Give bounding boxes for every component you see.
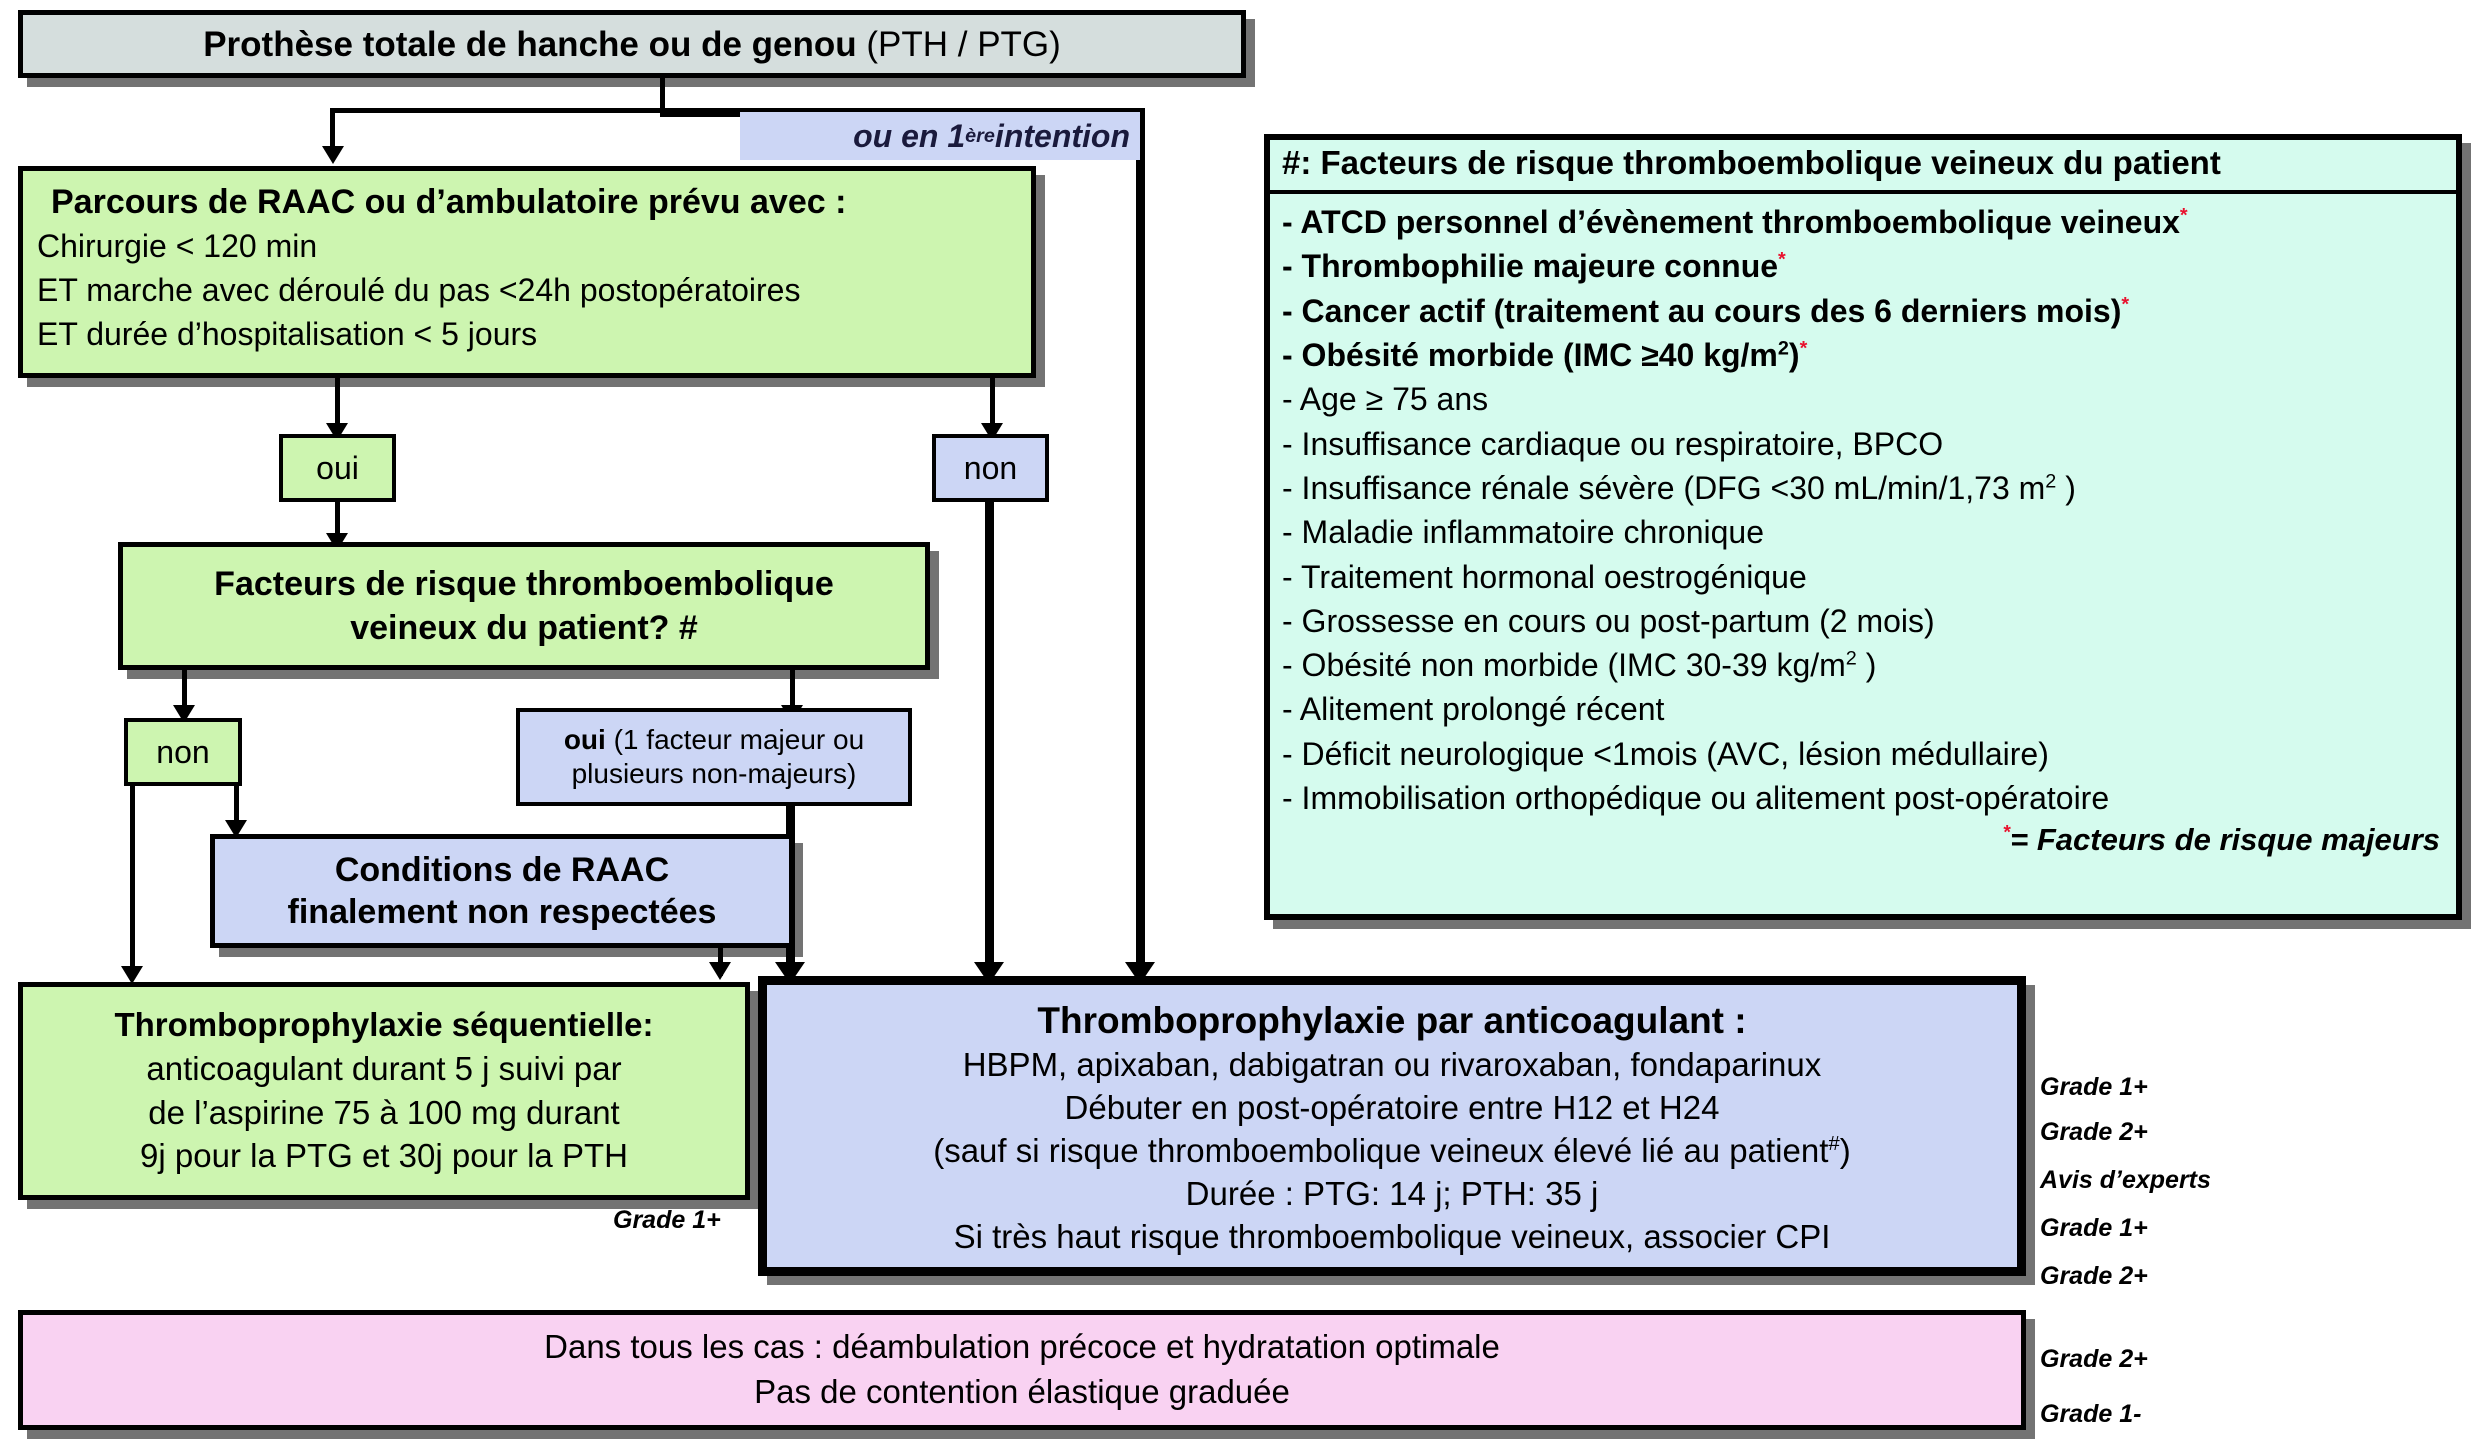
anticoag-heading: Thromboprophylaxie par anticoagulant : [767, 997, 2017, 1044]
anticoag-line-4: Durée : PTG: 14 j; PTH: 35 j [767, 1173, 2017, 1216]
node-title-prosthesis: Prothèse totale de hanche ou de genou (P… [18, 10, 1246, 78]
risk-item-obesity-minor-pre: - Obésité non morbide (IMC 30-39 kg/m [1282, 647, 1846, 683]
risk-item-obesity-major-post: ) [1789, 337, 1800, 373]
connector-title-stem [660, 78, 665, 112]
risk-panel-footnote-star: * [2003, 823, 2010, 844]
anticoag-line-5: Si très haut risque thromboembolique vei… [767, 1216, 2017, 1259]
node-anticoagulant-prophylaxis: Thromboprophylaxie par anticoagulant : H… [758, 976, 2026, 1276]
risk-oui-line-1: oui (1 facteur majeur ou [520, 723, 908, 757]
connector-risknon-to-sequential [130, 786, 135, 978]
grade-anticoag-1: Grade 1+ [2040, 1073, 2148, 1102]
risk-item-obesity-minor: - Obésité non morbide (IMC 30-39 kg/m2 ) [1282, 643, 2456, 687]
risk-item-major-2-text: - Thrombophilie majeure connue [1282, 248, 1778, 284]
risk-item-major-3: - Cancer actif (traitement au cours des … [1282, 289, 2456, 333]
raac-failed-line-1: Conditions de RAAC [215, 849, 789, 892]
node-risk-oui-major: oui (1 facteur majeur ou plusieurs non-m… [516, 708, 912, 806]
risk-item-major-2-star: * [1778, 249, 1786, 271]
raac-line-2: ET marche avec déroulé du pas <24h posto… [37, 268, 1017, 312]
all-cases-line-2: Pas de contention élastique graduée [23, 1370, 2021, 1415]
risk-item-obesity-major: - Obésité morbide (IMC ≥40 kg/m2)* [1282, 333, 2456, 377]
node-risk-non: non [124, 718, 242, 786]
risk-item-pregnancy: - Grossesse en cours ou post-partum (2 m… [1282, 599, 2456, 643]
risk-item-renal-pre: - Insuffisance rénale sévère (DFG <30 mL… [1282, 470, 2045, 506]
label-first-intention-post: intention [995, 118, 1130, 155]
anticoag-line-3-sup: # [1828, 1132, 1839, 1155]
risk-item-hormonal: - Traitement hormonal oestrogénique [1282, 555, 2456, 599]
risk-item-neuro: - Déficit neurologique <1mois (AVC, lési… [1282, 732, 2456, 776]
risk-question-line-2: veineux du patient? # [123, 606, 925, 650]
grade-all-cases-1: Grade 2+ [2040, 1345, 2148, 1374]
grade-anticoag-5: Grade 2+ [2040, 1262, 2148, 1291]
risk-question-line-1: Facteurs de risque thromboembolique [123, 562, 925, 606]
sequential-line-2: de l’aspirine 75 à 100 mg durant [23, 1091, 745, 1135]
risk-item-obesity-minor-sup: 2 [1846, 647, 1857, 669]
anticoag-line-2: Débuter en post-opératoire entre H12 et … [767, 1087, 2017, 1130]
raac-line-3: ET durée d’hospitalisation < 5 jours [37, 312, 1017, 356]
connector-to-raac [330, 108, 335, 150]
anticoag-line-3: (sauf si risque thromboembolique veineux… [767, 1130, 2017, 1173]
risk-item-major-2: - Thrombophilie majeure connue* [1282, 244, 2456, 288]
connector-title-split [330, 108, 665, 113]
grade-anticoag-4: Grade 1+ [2040, 1214, 2148, 1243]
sequential-heading-bold: Thromboprophylaxie séquentielle [114, 1006, 642, 1043]
node-risk-question: Facteurs de risque thromboembolique vein… [118, 542, 930, 670]
risk-item-major-1-text: - ATCD personnel d’évènement thromboembo… [1282, 204, 2180, 240]
risk-panel-list: - ATCD personnel d’évènement thromboembo… [1270, 194, 2456, 820]
grade-anticoag-2: Grade 2+ [2040, 1118, 2148, 1147]
risk-item-renal-post: ) [2056, 470, 2076, 506]
node-sequential-prophylaxis: Thromboprophylaxie séquentielle: anticoa… [18, 982, 750, 1200]
label-first-intention: ou en 1ère intention [740, 112, 1140, 160]
risk-oui-rest: (1 facteur majeur ou [606, 724, 864, 755]
anticoag-line-3-b: ) [1840, 1132, 1851, 1169]
risk-non-label: non [128, 734, 238, 771]
raac-failed-line-2: finalement non respectées [215, 891, 789, 934]
sequential-heading-rest: : [643, 1006, 654, 1043]
raac-heading: Parcours de RAAC ou d’ambulatoire prévu … [37, 181, 1017, 224]
risk-item-major-1: - ATCD personnel d’évènement thromboembo… [1282, 200, 2456, 244]
risk-item-renal-sup: 2 [2045, 470, 2056, 492]
sequential-heading: Thromboprophylaxie séquentielle: [23, 1004, 745, 1047]
risk-item-inflammatory: - Maladie inflammatoire chronique [1282, 510, 2456, 554]
node-decision-non: non [932, 434, 1049, 502]
node-decision-oui: oui [279, 434, 396, 502]
label-first-intention-sup: ère [965, 125, 995, 148]
panel-risk-factors: #: Facteurs de risque thromboembolique v… [1264, 134, 2462, 920]
sequential-line-3: 9j pour la PTG et 30j pour la PTH [23, 1134, 745, 1178]
node-title-bold: Prothèse totale de hanche ou de genou [203, 25, 856, 64]
decision-non-label: non [936, 450, 1045, 487]
risk-item-obesity-major-sup: 2 [1778, 337, 1789, 359]
risk-item-immobilisation: - Immobilisation orthopédique ou aliteme… [1282, 776, 2456, 820]
node-raac-failed: Conditions de RAAC finalement non respec… [210, 834, 794, 948]
risk-oui-line-2: plusieurs non-majeurs) [520, 757, 908, 791]
anticoag-line-1: HBPM, apixaban, dabigatran ou rivaroxaba… [767, 1044, 2017, 1087]
sequential-line-1: anticoagulant durant 5 j suivi par [23, 1047, 745, 1091]
risk-item-age: - Age ≥ 75 ans [1282, 377, 2456, 421]
flowchart-canvas: Prothèse totale de hanche ou de genou (P… [0, 0, 2480, 1450]
label-first-intention-pre: ou en 1 [853, 118, 965, 155]
risk-item-renal: - Insuffisance rénale sévère (DFG <30 mL… [1282, 466, 2456, 510]
risk-panel-footnote-text: = Facteurs de risque majeurs [2010, 822, 2440, 857]
risk-item-bedrest: - Alitement prolongé récent [1282, 687, 2456, 731]
grade-anticoag-3: Avis d’experts [2040, 1166, 2211, 1195]
arrowhead-raacfailed-to-anticoag [709, 962, 731, 980]
arrowhead-to-raac [322, 146, 344, 164]
risk-oui-bold: oui [564, 724, 606, 755]
node-all-cases: Dans tous les cas : déambulation précoce… [18, 1310, 2026, 1430]
connector-branch-vertical [1136, 108, 1145, 976]
anticoag-line-3-a: (sauf si risque thromboembolique veineux… [933, 1132, 1828, 1169]
risk-panel-title: #: Facteurs de risque thromboembolique v… [1270, 140, 2456, 194]
risk-item-obesity-minor-post: ) [1857, 647, 1877, 683]
risk-item-obesity-major-star: * [1800, 337, 1808, 359]
risk-item-major-3-text: - Cancer actif (traitement au cours des … [1282, 293, 2121, 329]
risk-item-major-3-star: * [2121, 293, 2129, 315]
risk-item-cardiac: - Insuffisance cardiaque ou respiratoire… [1282, 422, 2456, 466]
node-raac-criteria: Parcours de RAAC ou d’ambulatoire prévu … [18, 166, 1036, 378]
grade-all-cases-2: Grade 1- [2040, 1400, 2141, 1429]
decision-oui-label: oui [283, 450, 392, 487]
risk-item-obesity-major-pre: - Obésité morbide (IMC ≥40 kg/m [1282, 337, 1778, 373]
node-title-rest: (PTH / PTG) [857, 25, 1061, 64]
raac-line-1: Chirurgie < 120 min [37, 224, 1017, 268]
all-cases-line-1: Dans tous les cas : déambulation précoce… [23, 1325, 2021, 1370]
risk-item-major-1-star: * [2180, 204, 2188, 226]
connector-non-to-anticoag [985, 502, 994, 976]
grade-sequential: Grade 1+ [613, 1206, 721, 1235]
risk-panel-footnote: *= Facteurs de risque majeurs [1270, 820, 2456, 862]
